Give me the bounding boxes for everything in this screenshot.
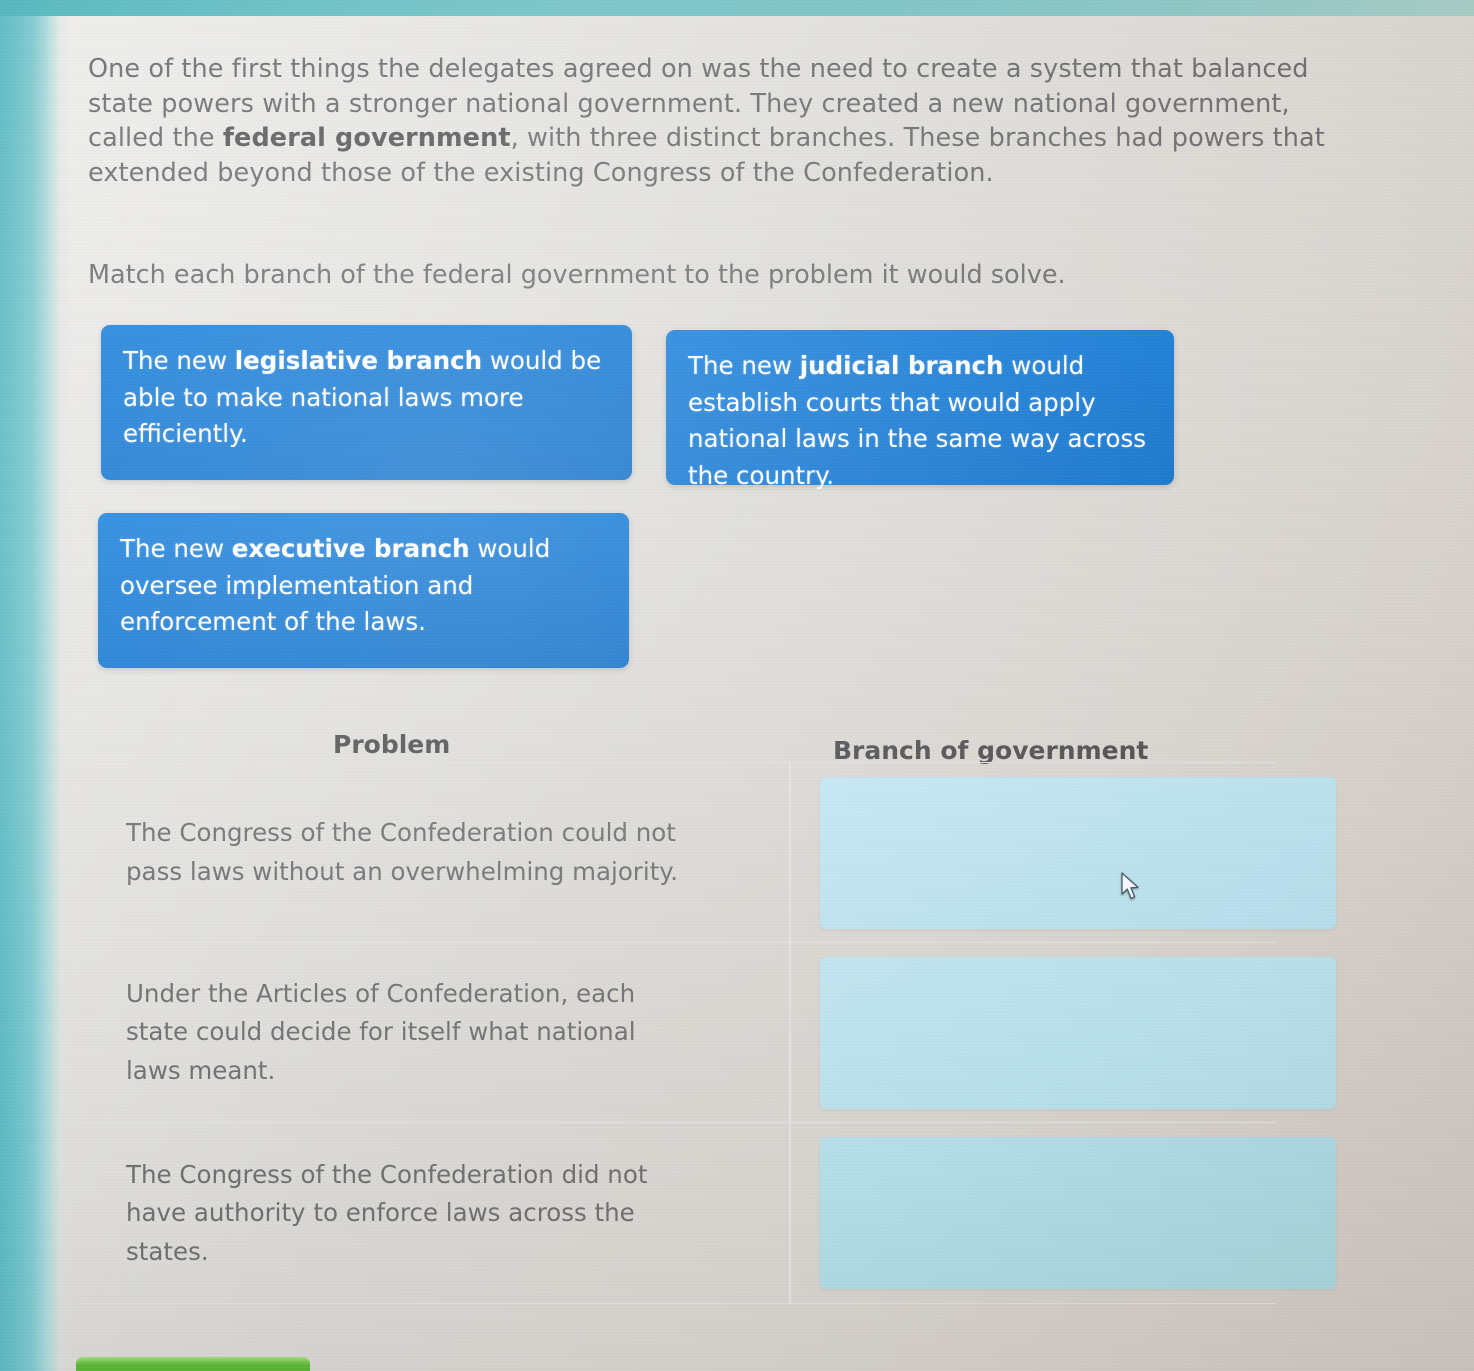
problem-cell: Under the Articles of Confederation, eac… [78,975,712,1091]
drop-zone-row-2[interactable] [820,957,1336,1109]
table-row: The Congress of the Confederation did no… [78,1123,1276,1304]
draggable-tile-legislative[interactable]: The new legislative branch would be able… [101,325,632,480]
tile-bold-term: judicial branch [800,351,1004,380]
tile-prefix: The new [120,534,232,563]
problem-cell: The Congress of the Confederation did no… [78,1156,712,1272]
column-divider [789,1123,791,1304]
tile-bold-term: executive branch [232,534,470,563]
drop-zone-row-1[interactable] [820,777,1336,929]
tile-bold-term: legislative branch [235,346,482,375]
table-row: Under the Articles of Confederation, eac… [78,943,1276,1123]
column-header-problem: Problem [333,730,450,759]
quiz-content: One of the first things the delegates ag… [0,0,1474,1371]
problem-cell: The Congress of the Confederation could … [78,814,712,891]
column-divider [789,763,791,942]
column-header-branch: Branch of government [833,736,1148,765]
drop-zone-row-3[interactable] [820,1137,1336,1289]
bezel-left-edge [0,0,46,1371]
passage-paragraph: One of the first things the delegates ag… [88,52,1368,190]
bezel-top-edge [0,0,1474,16]
tile-prefix: The new [123,346,235,375]
draggable-tile-judicial[interactable]: The new judicial branch would establish … [666,330,1174,485]
draggable-tile-executive[interactable]: The new executive branch would oversee i… [98,513,629,668]
bezel-left-glow [46,0,72,1371]
match-table: The Congress of the Confederation could … [78,762,1276,1304]
table-row: The Congress of the Confederation could … [78,763,1276,943]
arrow-cursor-icon [1120,872,1142,902]
column-divider [789,943,791,1122]
tile-prefix: The new [688,351,800,380]
submit-button[interactable] [76,1357,310,1371]
instruction-text: Match each branch of the federal governm… [88,258,1288,292]
passage-bold-term: federal government [223,123,511,153]
